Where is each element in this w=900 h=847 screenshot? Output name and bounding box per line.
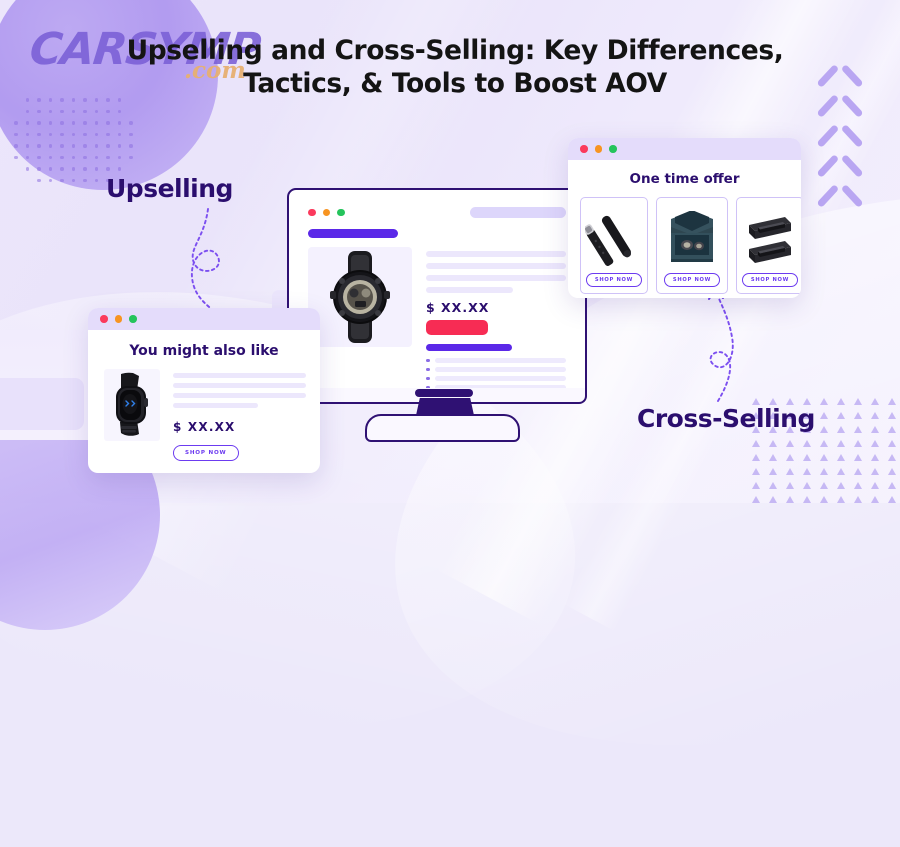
chevron-up-icon <box>818 108 862 134</box>
watch-icon <box>318 251 402 343</box>
window-dot-red[interactable] <box>308 209 316 217</box>
recommendation-price: $ XX.XX <box>173 420 306 434</box>
bullet-icon <box>426 368 430 372</box>
chevron-up-icon <box>818 168 862 194</box>
offer-card-title: One time offer <box>568 160 801 187</box>
text-placeholder <box>426 275 566 281</box>
window-dot-green[interactable] <box>129 315 137 323</box>
product-image[interactable] <box>308 247 412 347</box>
section-heading-placeholder <box>426 344 512 351</box>
shop-now-button[interactable]: SHOP NOW <box>586 273 642 287</box>
window-dot-amber[interactable] <box>115 315 123 323</box>
window-dot-green[interactable] <box>609 145 617 153</box>
window-dot-red[interactable] <box>100 315 108 323</box>
dot-pattern <box>14 98 140 184</box>
chevron-up-icon-group <box>818 78 862 228</box>
bullet-icon <box>426 377 430 381</box>
recommendation-product-image[interactable] <box>104 369 160 441</box>
search-input[interactable] <box>470 207 566 218</box>
shop-now-button[interactable]: SHOP NOW <box>664 273 720 287</box>
window-dot-amber[interactable] <box>323 209 331 217</box>
decorative-panel-left-lower <box>0 378 84 430</box>
monitor-display: $ XX.XX <box>287 188 587 400</box>
text-placeholder <box>426 287 513 293</box>
bullet-icon <box>426 359 430 363</box>
text-placeholder <box>173 393 306 398</box>
text-placeholder <box>173 383 306 388</box>
offer-item[interactable]: SHOP NOW <box>736 197 801 294</box>
recommendation-card: You might also like $ XX.XX S <box>88 308 320 473</box>
text-placeholder <box>173 403 258 408</box>
monitor-logo-bar <box>415 389 473 397</box>
window-dot-red[interactable] <box>580 145 588 153</box>
offer-item[interactable]: SHOP NOW <box>580 197 648 294</box>
recommendation-product: $ XX.XX SHOP NOW <box>88 359 320 461</box>
text-placeholder <box>173 373 306 378</box>
watch-strap-loops-icon <box>741 211 799 267</box>
label-upselling: Upselling <box>106 174 233 203</box>
card-titlebar <box>88 308 320 330</box>
monitor-stand-base <box>365 414 520 442</box>
recommendation-card-title: You might also like <box>88 330 320 359</box>
offer-item-list: SHOP NOW SHOP NOW <box>568 187 801 294</box>
window-dot-green[interactable] <box>337 209 345 217</box>
offer-item-image <box>585 205 643 273</box>
offer-item-image <box>661 205 723 273</box>
chevron-up-icon <box>818 198 862 224</box>
page-title: Upselling and Cross-Selling: Key Differe… <box>120 34 790 101</box>
smartwatch-icon <box>107 372 157 438</box>
label-cross-selling: Cross-Selling <box>637 404 815 433</box>
chevron-up-icon <box>818 138 862 164</box>
text-placeholder <box>426 251 566 257</box>
feature-list <box>426 358 566 390</box>
window-dots <box>100 315 137 323</box>
one-time-offer-card: One time offer SHOP NOW <box>568 138 801 298</box>
product-detail: $ XX.XX <box>294 238 580 393</box>
offer-item[interactable]: SHOP NOW <box>656 197 728 294</box>
watch-strap-icon <box>585 211 643 267</box>
card-titlebar <box>568 138 801 160</box>
chevron-up-icon <box>818 78 862 104</box>
page-heading-placeholder <box>308 229 398 238</box>
window-dots <box>308 209 345 217</box>
monitor-screen: $ XX.XX <box>294 195 580 393</box>
cross-selling-arrow-icon <box>690 285 785 405</box>
shop-now-button[interactable]: SHOP NOW <box>742 273 798 287</box>
list-item <box>426 376 566 381</box>
product-price: $ XX.XX <box>426 300 566 315</box>
window-dot-amber[interactable] <box>595 145 603 153</box>
watch-gift-box-icon <box>661 211 723 267</box>
offer-item-image <box>741 205 799 273</box>
browser-chrome <box>294 195 580 218</box>
shop-now-button[interactable]: SHOP NOW <box>173 445 239 461</box>
text-placeholder <box>426 263 566 269</box>
list-item <box>426 358 566 363</box>
window-dots <box>580 145 617 153</box>
add-to-cart-button[interactable] <box>426 320 488 335</box>
list-item <box>426 367 566 372</box>
